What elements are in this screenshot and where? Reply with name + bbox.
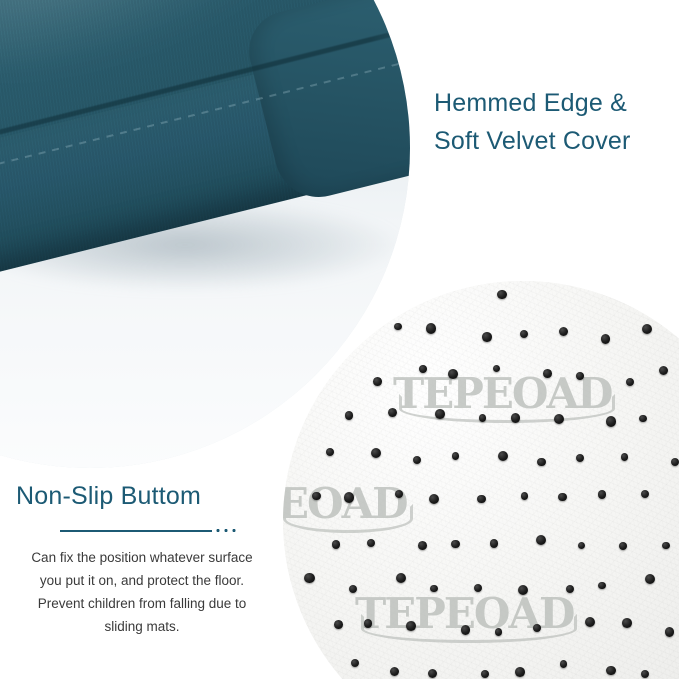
mat-grip-dot (373, 377, 382, 386)
mat-grip-dot (406, 621, 416, 631)
underline-dots (216, 529, 242, 532)
mat-grip-dot (533, 624, 541, 632)
mat-grip-dot (585, 617, 595, 627)
mat-grip-dot (304, 573, 314, 583)
top-headline-line-1: Hemmed Edge & (434, 84, 679, 122)
mat-grip-dot (351, 659, 359, 667)
mat-grip-dot (511, 413, 521, 423)
headline-underline (60, 526, 240, 536)
mat-grip-dot (312, 492, 321, 501)
mat-grip-dot (419, 365, 427, 373)
mat-grip-dot (477, 495, 485, 503)
mat-grip-dot (598, 582, 605, 589)
mat-grip-dot (671, 458, 679, 466)
mat-grip-dot (598, 490, 606, 498)
mat-grip-dot (388, 408, 397, 417)
top-headline-line-2: Soft Velvet Cover (434, 122, 679, 160)
mat-grip-dot (428, 669, 437, 678)
mat-grip-dot (344, 492, 354, 502)
mat-grip-dot (461, 625, 471, 635)
mat-grip-dots (283, 281, 679, 679)
mat-grip-dot (334, 620, 343, 629)
mat-grip-dot (390, 667, 399, 676)
mat-grip-dot (429, 494, 439, 504)
mat-grip-dot (645, 574, 655, 584)
mat-grip-dot (515, 667, 525, 677)
mat-grip-dot (474, 584, 482, 592)
mat-grip-dot (490, 539, 499, 548)
mat-grip-dot (371, 448, 381, 458)
mat-grip-dot (394, 323, 402, 331)
mat-grip-dot (626, 378, 634, 386)
mat-grip-dot (559, 327, 568, 336)
mat-grip-dot (659, 366, 668, 375)
underline-bar (60, 530, 212, 532)
body-line-2: you put it on, and protect the floor. (8, 569, 276, 592)
mat-grip-dot (395, 490, 403, 498)
mat-grip-dot (560, 660, 567, 667)
mat-grip-dot (364, 619, 372, 627)
mat-grip-dot (497, 290, 507, 300)
mat-grip-dot (642, 324, 652, 334)
mat-grip-dot (482, 332, 491, 341)
mat-grip-dot (426, 323, 436, 333)
mat-grip-dot (345, 411, 354, 420)
mat-grip-dot (578, 542, 585, 549)
top-headline: Hemmed Edge & Soft Velvet Cover (434, 84, 679, 160)
mat-grip-dot (576, 454, 584, 462)
mat-grip-dot (430, 585, 437, 592)
mat-grip-dot (536, 535, 546, 545)
bottom-body-copy: Can fix the position whatever surface yo… (8, 546, 276, 638)
mat-grip-dot (367, 539, 375, 547)
mat-grip-dot (558, 493, 567, 502)
mat-grip-dot (418, 541, 427, 550)
mat-grip-dot (619, 542, 627, 550)
mat-grip-dot (495, 628, 502, 635)
mat-grip-dot (435, 409, 445, 419)
mat-grip-dot (448, 369, 458, 379)
mat-grip-dot (326, 448, 334, 456)
mat-grip-dot (349, 585, 357, 593)
mat-grip-dot (537, 458, 546, 467)
mat-grip-dot (639, 415, 646, 422)
mat-grip-dot (641, 490, 649, 498)
mat-grip-dot (498, 451, 508, 461)
mat-grip-dot (606, 416, 616, 426)
body-line-1: Can fix the position whatever surface (8, 546, 276, 569)
mat-grip-dot (332, 540, 341, 549)
mat-grip-dot (622, 618, 632, 628)
mat-grip-dot (452, 452, 460, 460)
mat-grip-dot (606, 666, 616, 676)
body-line-3: Prevent children from falling due to (8, 592, 276, 615)
mat-grip-dot (521, 492, 528, 499)
mat-grip-dot (641, 670, 649, 678)
mat-grip-dot (493, 365, 501, 373)
mat-grip-dot (554, 414, 564, 424)
mat-grip-dot (451, 540, 460, 549)
mat-grip-dot (621, 453, 629, 461)
mat-grip-dot (566, 585, 574, 593)
mat-grip-dot (576, 372, 584, 380)
mat-grip-dot (396, 573, 406, 583)
body-line-4: sliding mats. (8, 615, 276, 638)
mat-grip-dot (543, 369, 552, 378)
mat-grip-dot (662, 542, 669, 549)
mat-grip-dot (481, 670, 489, 678)
product-infographic: Hemmed Edge & Soft Velvet Cover TEPEOAD … (0, 0, 679, 679)
mat-grip-dot (518, 585, 528, 595)
bottom-headline: Non-Slip Buttom (16, 482, 286, 511)
mat-grip-dot (601, 334, 611, 344)
mat-grip-dot (479, 414, 487, 422)
non-slip-mat-photo: TEPEOAD EOAD TEPEOAD (283, 281, 679, 679)
mat-grip-dot (665, 627, 674, 636)
mat-grip-dot (520, 330, 528, 338)
mat-grip-dot (413, 456, 421, 464)
